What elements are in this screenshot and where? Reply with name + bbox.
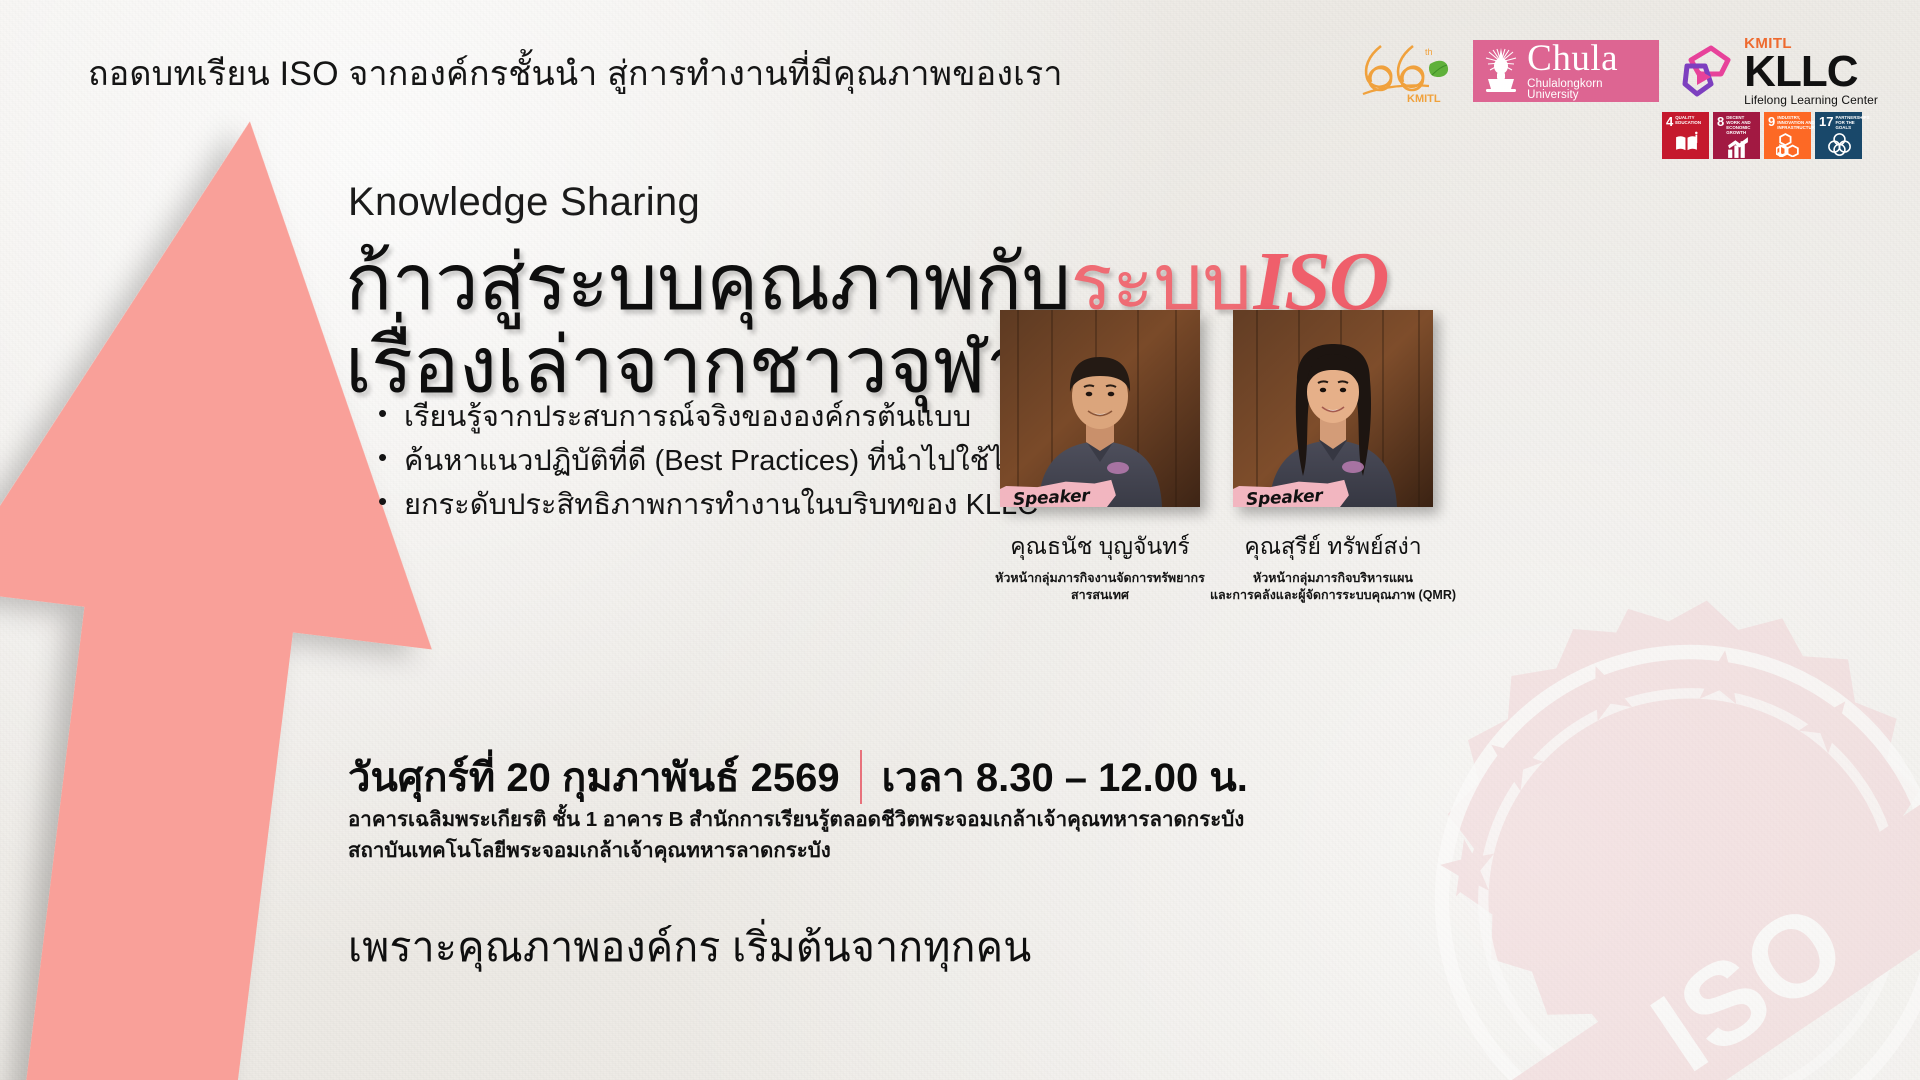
logo-cluster: th KMITL: [1355, 36, 1878, 106]
hero-kicker: Knowledge Sharing: [348, 180, 700, 225]
benefit-list: เรียนรู้จากประสบการณ์จริงขององค์กรต้นแบบ…: [378, 395, 1069, 527]
svg-text:th: th: [1425, 47, 1433, 57]
speaker-badge-label: Speaker: [1245, 486, 1323, 507]
sdg-label: Decent Work and Economic Growth: [1726, 115, 1757, 135]
open-book-icon: [1666, 128, 1706, 159]
kmitl-66-caption: KMITL: [1407, 93, 1441, 104]
speaker-name: คุณสุรีย์ ทรัพย์สง่า: [1195, 529, 1471, 565]
event-date: วันศุกร์ที่ 20 กุมภาพันธ์ 2569: [348, 745, 840, 809]
growth-chart-icon: [1717, 135, 1757, 160]
kllc-acronym: KLLC: [1744, 51, 1878, 93]
speaker-photo: Speaker: [1233, 310, 1433, 507]
speaker-role: หัวหน้ากลุ่มภารกิจงานจัดการทรัพยากรสารสน…: [968, 570, 1232, 604]
sdg-badge-17: 17 Partnerships for the Goals: [1815, 112, 1862, 159]
sdg-label: Partnerships for the Goals: [1835, 115, 1869, 130]
page-title: ถอดบทเรียน ISO จากองค์กรชั้นนำ สู่การทำง…: [88, 46, 1063, 100]
speaker-card: Speaker คุณสุรีย์ ทรัพย์สง่า หัวหน้ากลุ่…: [1233, 310, 1433, 604]
sdg-badge-row: 4 Quality Education 8 Decent Work and Ec…: [1662, 112, 1862, 159]
iso-stamp-watermark: ISO: [1322, 532, 1920, 1080]
kllc-subtitle: Lifelong Learning Center: [1744, 94, 1878, 106]
cubes-icon: [1768, 130, 1808, 159]
speaker-card: Speaker คุณธนัช บุญจันทร์ หัวหน้ากลุ่มภา…: [1000, 310, 1200, 604]
sdg-badge-8: 8 Decent Work and Economic Growth: [1713, 112, 1760, 159]
sdg-label: Quality Education: [1675, 115, 1706, 125]
sdg-number: 9: [1768, 115, 1775, 128]
chula-logo: Chula Chulalongkorn University: [1473, 40, 1659, 102]
venue-line-2: สถาบันเทคโนโลยีพระจอมเกล้าเจ้าคุณทหารลาด…: [348, 836, 1244, 867]
sdg-badge-4: 4 Quality Education: [1662, 112, 1709, 159]
kllc-logo: KMITL KLLC Lifelong Learning Center: [1681, 36, 1878, 106]
speaker-badge: Speaker: [1000, 481, 1116, 507]
speaker-badge: Speaker: [1233, 481, 1349, 507]
list-item: ยกระดับประสิทธิภาพการทำงานในบริบทของ KLL…: [378, 483, 1069, 527]
poster-canvas: ISO ถอดบทเรียน ISO จากองค์กรชั้นนำ สู่กา…: [0, 0, 1920, 1080]
list-item: ค้นหาแนวปฏิบัติที่ดี (Best Practices) ที…: [378, 439, 1069, 483]
kmitl-66th-logo: th KMITL: [1355, 38, 1451, 104]
event-datetime: วันศุกร์ที่ 20 กุมภาพันธ์ 2569 เวลา 8.30…: [348, 745, 1248, 809]
chula-subtitle: Chulalongkorn University: [1527, 79, 1647, 102]
sdg-number: 17: [1819, 115, 1833, 128]
event-time: เวลา 8.30 – 12.00 น.: [882, 745, 1248, 809]
sdg-badge-9: 9 Industry, Innovation and Infrastructur…: [1764, 112, 1811, 159]
sdg-number: 8: [1717, 115, 1724, 128]
circles-icon: [1819, 130, 1859, 159]
speaker-role: หัวหน้ากลุ่มภารกิจบริหารแผน และการคลังแล…: [1195, 570, 1471, 604]
venue-line-1: อาคารเฉลิมพระเกียรติ ชั้น 1 อาคาร B สำนั…: [348, 805, 1244, 836]
list-item: เรียนรู้จากประสบการณ์จริงขององค์กรต้นแบบ: [378, 395, 1069, 439]
speaker-badge-label: Speaker: [1012, 486, 1090, 507]
datetime-divider: [860, 750, 862, 804]
event-venue: อาคารเฉลิมพระเกียรติ ชั้น 1 อาคาร B สำนั…: [348, 805, 1244, 867]
closing-tagline: เพราะคุณภาพองค์กร เริ่มต้นจากทุกคน: [348, 915, 1031, 980]
chula-wordmark: Chula: [1527, 40, 1647, 77]
speaker-photo: Speaker: [1000, 310, 1200, 507]
kllc-mark-icon: [1681, 44, 1735, 98]
sdg-label: Industry, Innovation and Infrastructure: [1777, 115, 1817, 130]
sdg-number: 4: [1666, 115, 1673, 128]
speaker-name: คุณธนัช บุญจันทร์: [968, 529, 1232, 565]
chula-crest-icon: [1483, 46, 1519, 96]
